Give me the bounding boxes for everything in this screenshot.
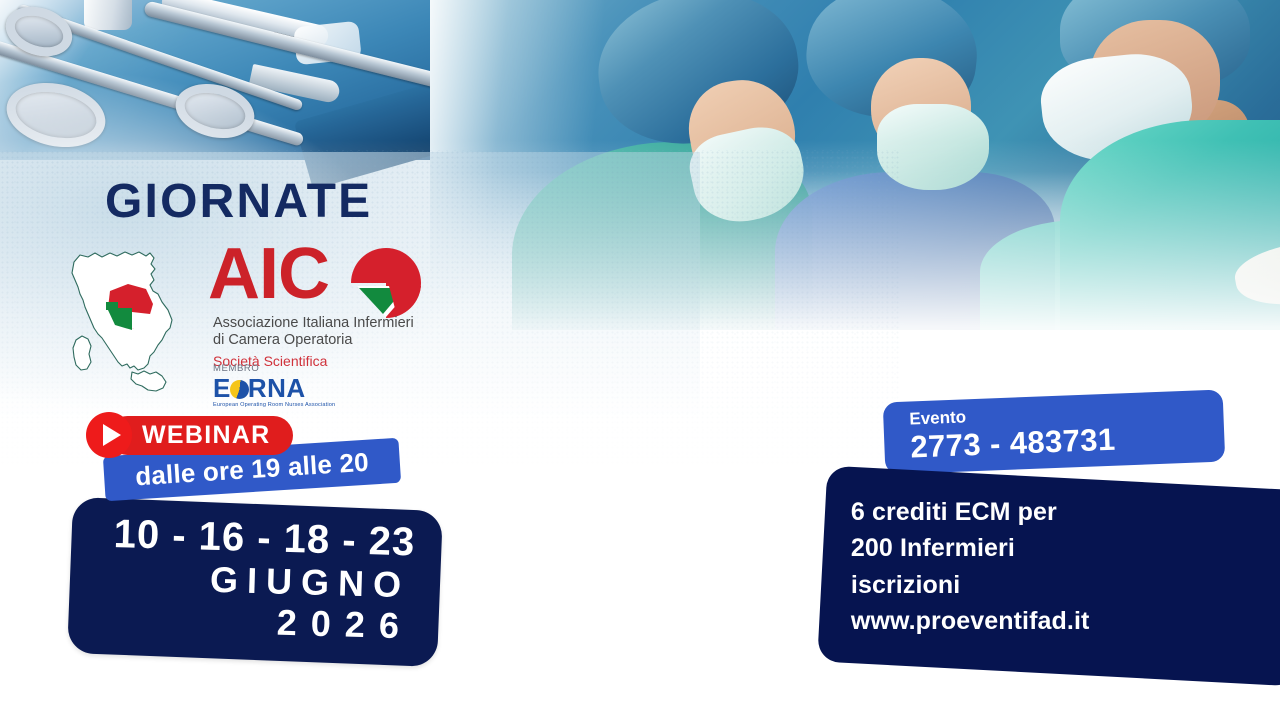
eorna-wordmark: ERNA: [213, 375, 363, 403]
ecm-registration-label: iscrizioni: [851, 567, 1280, 603]
eorna-logo: MEMBRO ERNA European Operating Room Nurs…: [213, 364, 363, 409]
ecm-content: 6 crediti ECM per 200 Infermieri iscrizi…: [823, 478, 1280, 639]
poster-canvas: GIORNATE AIC: [0, 0, 1280, 720]
evento-badge: Evento 2773 - 483731: [883, 390, 1226, 475]
aic-subtitle-line2: di Camera Operatoria: [213, 332, 352, 348]
aic-o-circle: [349, 246, 423, 320]
eorna-tagline: European Operating Room Nurses Associati…: [213, 403, 363, 409]
eorna-globe-icon: [230, 380, 249, 399]
eorna-letters-rna: RNA: [248, 373, 306, 403]
dates-year: 2026: [69, 595, 414, 646]
ecm-participants-line: 200 Infermieri: [851, 530, 1280, 566]
webinar-label: WEBINAR: [108, 416, 293, 455]
page-title: GIORNATE: [105, 178, 372, 226]
header-photo-band: [0, 0, 1280, 330]
ecm-info-panel: 6 crediti ECM per 200 Infermieri iscrizi…: [817, 466, 1280, 687]
aic-wordmark: AIC: [208, 238, 329, 310]
ecm-credits-line: 6 crediti ECM per: [851, 494, 1280, 530]
ecm-website-link[interactable]: www.proeventifad.it: [851, 603, 1280, 639]
aic-logo: AIC: [208, 238, 428, 318]
play-icon[interactable]: [86, 412, 132, 458]
italy-map: [58, 244, 188, 409]
aic-subtitle: Associazione Italiana Infermieri di Came…: [213, 315, 443, 370]
eorna-letter-e: E: [213, 373, 231, 403]
aic-subtitle-line1: Associazione Italiana Infermieri: [213, 315, 414, 331]
dates-panel: 10 - 16 - 18 - 23 GIUGNO 2026: [67, 497, 443, 667]
dates-content: 10 - 16 - 18 - 23 GIUGNO 2026: [69, 499, 443, 647]
play-triangle: [103, 424, 121, 446]
